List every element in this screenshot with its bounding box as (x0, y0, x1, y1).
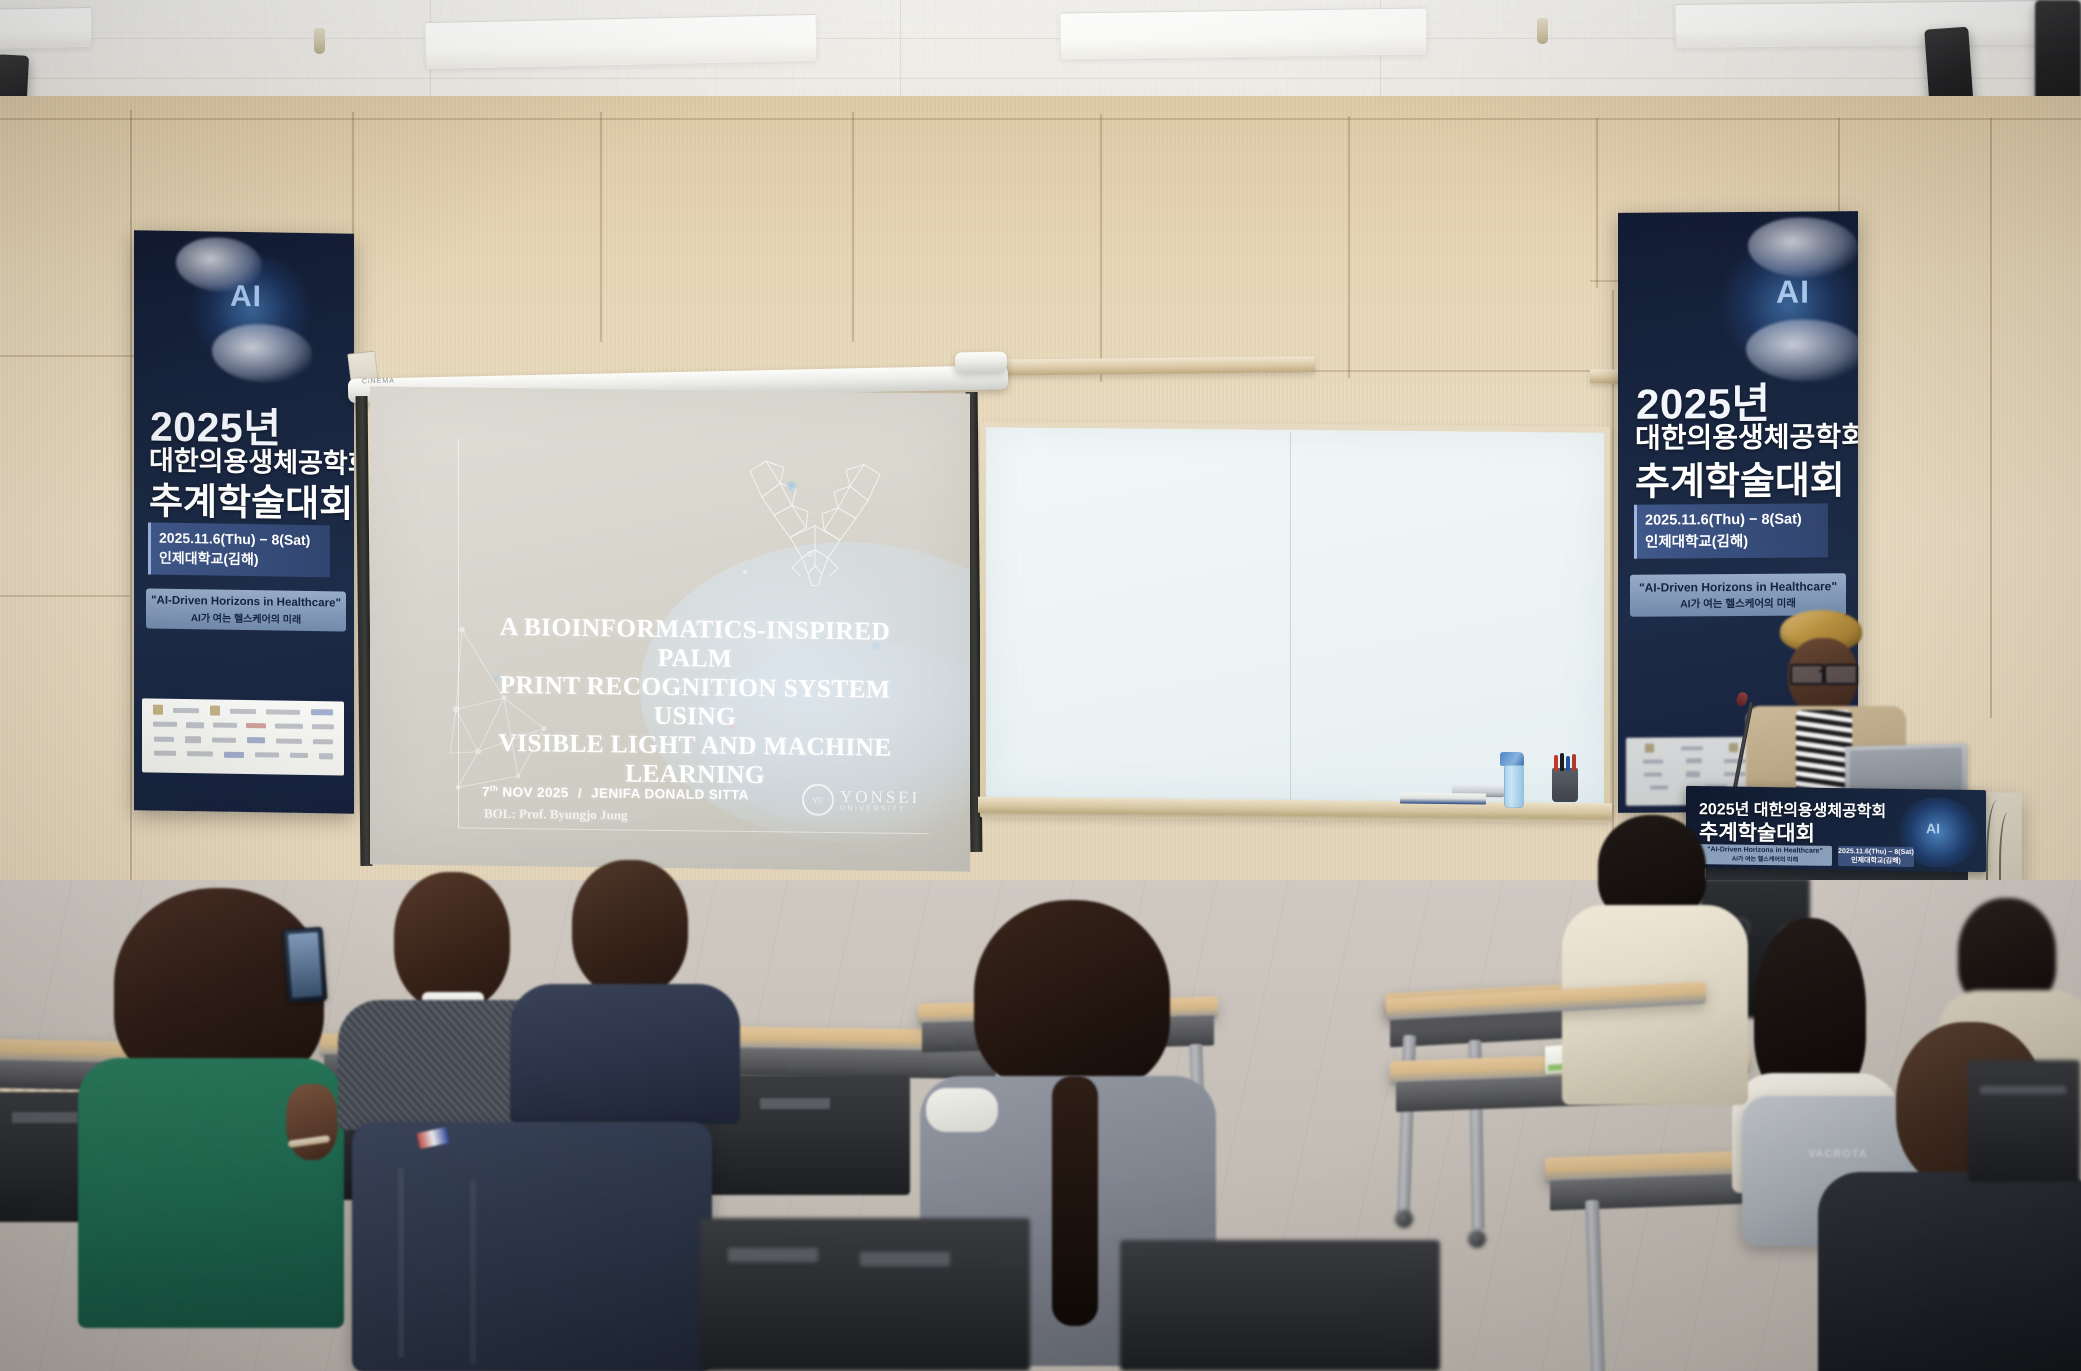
left-banner-date: 2025.11.6(Thu) − 8(Sat) (159, 530, 330, 549)
audience-member-a3 (510, 860, 740, 1120)
jacket-seam (470, 1180, 476, 1365)
ceiling-light-panel (425, 14, 818, 69)
torso-navy-suit (510, 984, 740, 1124)
chair-slat (760, 1098, 830, 1109)
screen-brand-mark: CiNEMA (362, 378, 395, 386)
slide-date-rest: NOV 2025 (498, 784, 568, 800)
sprinkler-head (1537, 18, 1548, 44)
hand-graphic-bottom (212, 323, 312, 383)
slide-date-number: 7 (482, 784, 490, 799)
projection-screen: A BIOINFORMATICS-INSPIRED PALM PRINT REC… (370, 386, 970, 871)
right-tagline-en: "AI-Driven Horizons in Healthcare" (1639, 579, 1837, 594)
wall-panel-line (1990, 118, 1992, 718)
phone-screen (288, 932, 322, 998)
podium-sign-datebox: 2025.11.6(Thu) − 8(Sat) 인제대학교(김해) (1838, 846, 1914, 867)
spray-bottle[interactable] (1498, 752, 1528, 806)
right-banner-venue: 인제대학교(김해) (1645, 529, 1828, 551)
wall-seam (0, 118, 2081, 120)
slide-meta-separator: / (573, 785, 587, 800)
lecture-room-photograph: AI 2025년 대한의용생체공학회 추계학술대회 2025.11.6(Thu)… (0, 0, 2081, 1371)
yonsei-seal-text: YU (812, 795, 824, 804)
left-banner-event: 추계학술대회 (149, 471, 353, 528)
chair-back[interactable] (1968, 1060, 2080, 1182)
chair-slat (860, 1252, 950, 1266)
left-event-banner: AI 2025년 대한의용생체공학회 추계학술대회 2025.11.6(Thu)… (134, 230, 354, 813)
wireframe-eagle-icon (740, 453, 890, 595)
white-scarf (926, 1088, 998, 1132)
screen-roller-end (955, 351, 1007, 372)
bokeh-dot (742, 569, 748, 575)
right-banner-date: 2025.11.6(Thu) − 8(Sat) (1645, 511, 1828, 528)
wall-panel-line (600, 112, 602, 342)
smartphone[interactable] (282, 927, 327, 1004)
jacket-seam (398, 1168, 404, 1358)
presenter-glasses-bridge (1819, 670, 1826, 672)
right-banner-datebox: 2025.11.6(Thu) − 8(Sat) 인제대학교(김해) (1634, 503, 1828, 558)
wall-panel-line (130, 110, 132, 880)
spray-bottle-body (1504, 765, 1524, 808)
wall-panel-line (1100, 114, 1102, 382)
presenter-glasses-left (1790, 664, 1824, 685)
yonsei-seal-icon: YU (802, 784, 834, 816)
podium-ai-label: AI (1926, 820, 1940, 836)
slide-presenter-name: JENIFA DONALD SITTA (591, 786, 749, 803)
torso (1818, 1172, 2081, 1371)
right-banner-event: 추계학술대회 (1635, 449, 1845, 505)
slide-title-line-1: A BIOINFORMATICS-INSPIRED PALM (480, 612, 910, 675)
wall-panel-line (1596, 118, 1598, 288)
chair-back[interactable] (1120, 1240, 1440, 1371)
marker-red-2 (1572, 754, 1576, 771)
left-banner-venue: 인제대학교(김해) (159, 548, 330, 571)
presenter-glasses-right (1824, 664, 1858, 685)
desk-caster (1468, 1230, 1486, 1248)
podium-venue: 인제대학교(김해) (1851, 855, 1901, 866)
left-tagline-ko: AI가 여는 헬스케어의 미래 (191, 609, 301, 626)
head (572, 860, 688, 996)
hair (974, 900, 1170, 1092)
right-tagline-ko: AI가 여는 헬스케어의 미래 (1680, 595, 1796, 611)
ceiling-light-panel (1675, 0, 2052, 48)
head (394, 872, 510, 1010)
wall-seam (0, 595, 130, 597)
ponytail (1052, 1076, 1098, 1326)
whiteboard-seam (1290, 432, 1291, 804)
ceiling-light-panel (1060, 7, 1428, 59)
yonsei-university-logo: YU YONSEI UNIVERSITY (802, 784, 920, 817)
marker-red (1554, 755, 1558, 771)
marker-black (1560, 753, 1564, 771)
marker-blue (1566, 756, 1570, 771)
slide-title-line-2: PRINT RECOGNITION SYSTEM USING (480, 670, 910, 733)
slide-title: A BIOINFORMATICS-INSPIRED PALM PRINT REC… (480, 612, 910, 792)
slide-advisor-line: BOL: Prof. Byungjo Jung (484, 806, 628, 824)
chair-slat (728, 1248, 818, 1262)
wall-panel-line (1348, 116, 1350, 378)
ai-label: AI (1776, 273, 1810, 310)
hand (286, 1084, 338, 1160)
wall-panel-line (852, 112, 854, 342)
slide-title-line-3: VISIBLE LIGHT AND MACHINE (480, 728, 910, 762)
left-banner-sponsor-logos (142, 698, 344, 775)
navy-puffer-jacket[interactable] (352, 1122, 712, 1371)
yonsei-logo-name: YONSEI (840, 788, 920, 806)
left-banner-datebox: 2025.11.6(Thu) − 8(Sat) 인제대학교(김해) (148, 522, 330, 577)
slide-date-presenter-line: 7th NOV 2025 / JENIFA DONALD SITTA (482, 784, 749, 803)
bokeh-dot (785, 479, 798, 492)
ceiling-seam (0, 78, 2081, 79)
left-tagline-en: "AI-Driven Horizons in Healthcare" (151, 594, 341, 609)
book-stack[interactable] (1400, 793, 1486, 805)
chair-back[interactable] (700, 1218, 1030, 1371)
audience-member-a5 (1550, 815, 1760, 1115)
ceiling-light-panel (0, 7, 92, 49)
desk-caster (1395, 1210, 1413, 1228)
whiteboard[interactable] (986, 427, 1604, 806)
sprinkler-head (314, 28, 325, 54)
ai-label: AI (230, 280, 262, 315)
marker-cup[interactable] (1552, 768, 1578, 802)
left-banner-tagline: "AI-Driven Horizons in Healthcare" AI가 여… (146, 588, 346, 631)
chair-slat (1980, 1086, 2066, 1094)
spray-nozzle (1500, 752, 1524, 766)
